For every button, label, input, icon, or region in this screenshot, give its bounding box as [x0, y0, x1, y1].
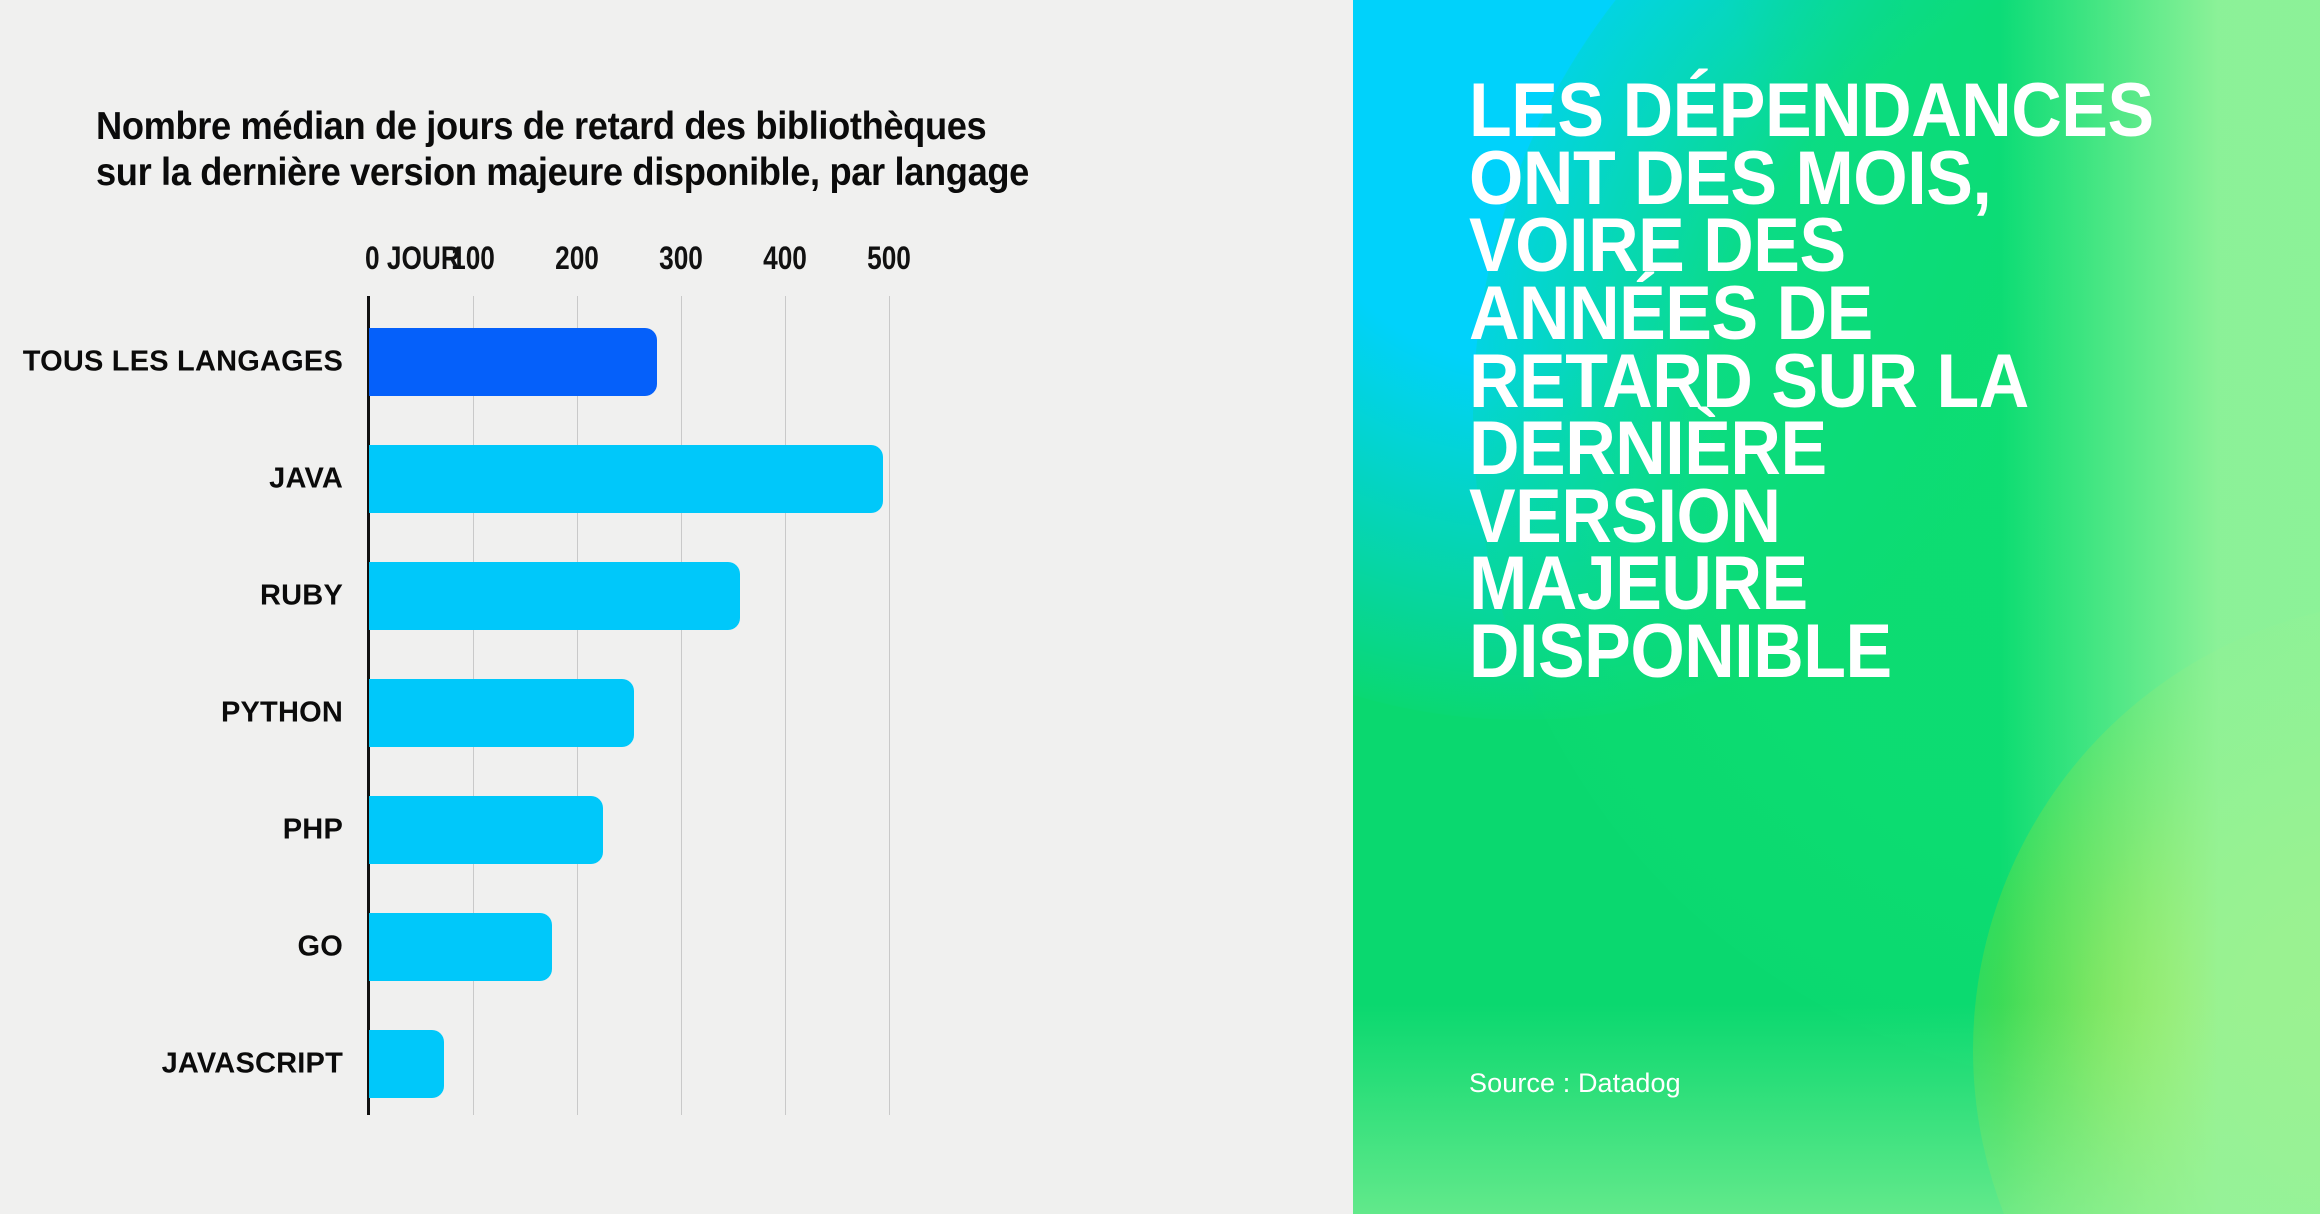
bar-row: JAVASCRIPT [369, 1030, 889, 1098]
bar [369, 913, 552, 981]
x-tick-label: 500 [867, 240, 911, 277]
category-label: JAVA [269, 463, 343, 496]
headline-text: LES DÉPENDANCES ONT DES MOIS, VOIRE DES … [1469, 77, 2187, 686]
x-tick-label: 0 JOUR [365, 240, 460, 277]
bar [369, 796, 603, 864]
gradient-blob-light-green-bottom [1353, 1004, 2320, 1214]
gridline [889, 296, 890, 1115]
bar [369, 1030, 444, 1098]
bar-row: PYTHON [369, 679, 889, 747]
chart-title: Nombre médian de jours de retard des bib… [96, 104, 1212, 196]
category-label: JAVASCRIPT [162, 1048, 343, 1081]
bar [369, 445, 883, 513]
source-credit: Source : Datadog [1469, 1068, 1681, 1099]
infographic-root: Nombre médian de jours de retard des bib… [0, 0, 2320, 1214]
category-label: RUBY [260, 580, 343, 613]
x-tick-label: 200 [555, 240, 599, 277]
gradient-panel: LES DÉPENDANCES ONT DES MOIS, VOIRE DES … [1353, 0, 2320, 1214]
bar [369, 562, 740, 630]
x-tick-label: 300 [659, 240, 703, 277]
category-label: PYTHON [221, 697, 343, 730]
category-label: TOUS LES LANGAGES [23, 346, 343, 379]
bar-row: TOUS LES LANGAGES [369, 328, 889, 396]
category-label: GO [297, 931, 343, 964]
bar [369, 328, 657, 396]
bar [369, 679, 634, 747]
x-tick-label: 400 [763, 240, 807, 277]
bar-row: GO [369, 913, 889, 981]
bar-row: PHP [369, 796, 889, 864]
x-tick-label: 100 [451, 240, 495, 277]
bar-row: RUBY [369, 562, 889, 630]
category-label: PHP [283, 814, 343, 847]
bar-row: JAVA [369, 445, 889, 513]
chart-panel: Nombre médian de jours de retard des bib… [0, 0, 1353, 1214]
plot-area: 0 JOUR100200300400500 TOUS LES LANGAGESJ… [369, 296, 889, 1115]
